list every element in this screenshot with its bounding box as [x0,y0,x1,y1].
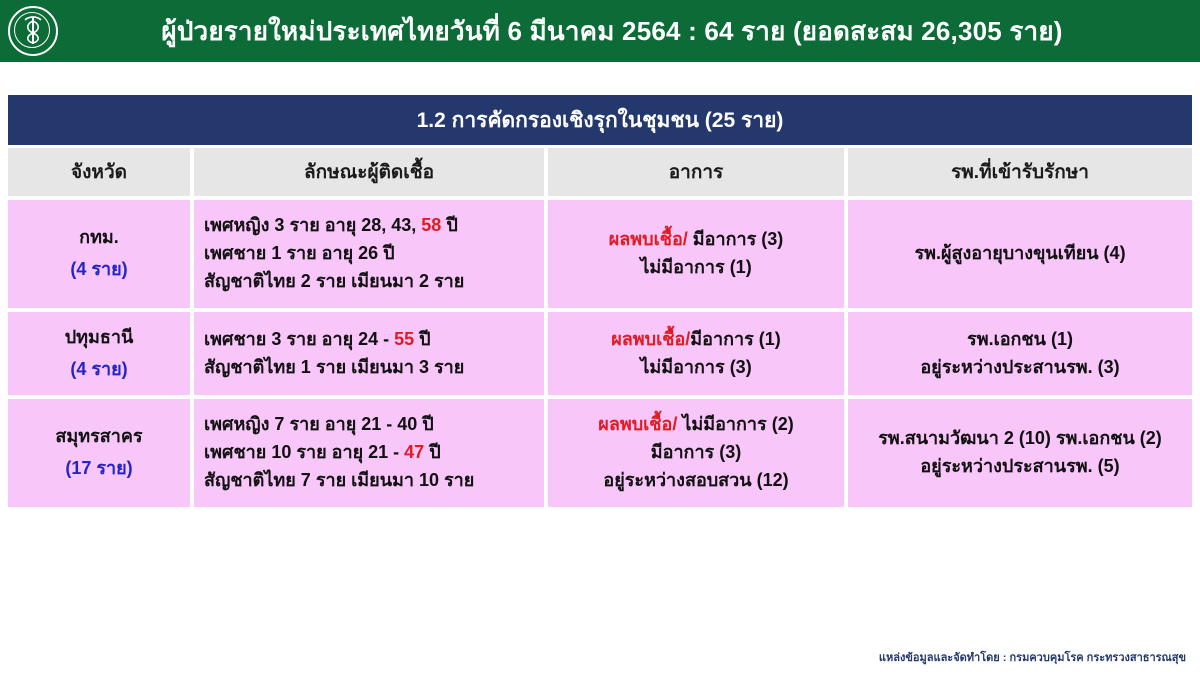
profile-line: สัญชาติไทย 2 ราย เมียนมา 2 ราย [204,268,534,296]
column-header-symptom: อาการ [548,148,848,200]
profile-line: สัญชาติไทย 7 ราย เมียนมา 10 ราย [204,467,534,495]
symptom-cell: ผลพบเชื้อ/มีอาการ (1)ไม่มีอาการ (3) [548,312,848,400]
hospital-line: รพ.เอกชน (1) [858,326,1182,354]
hospital_lines-text: อยู่ระหว่างประสานรพ. (3) [920,357,1119,377]
province-case-count: (17 ราย) [18,455,180,483]
profile_lines-text: สัญชาติไทย 2 ราย เมียนมา 2 ราย [204,271,464,291]
profile-line: เพศชาย 3 ราย อายุ 24 - 55 ปี [204,326,534,354]
symptom-line: ไม่มีอาการ (3) [558,354,834,382]
symptom_lines-text: มีอาการ (3) [651,442,741,462]
symptom_lines-text: อยู่ระหว่างสอบสวน (12) [603,470,788,490]
profile-line: เพศชาย 1 ราย อายุ 26 ปี [204,240,534,268]
profile_lines-highlight: 47 [404,442,424,462]
page-title: ผู้ป่วยรายใหม่ประเทศไทยวันที่ 6 มีนาคม 2… [64,11,1200,52]
symptom_lines-text: ไม่มีอาการ (3) [640,357,751,377]
symptom-line: ผลพบเชื้อ/มีอาการ (1) [558,326,834,354]
hospital_lines-text: รพ.สนามวัฒนา 2 (10) รพ.เอกชน (2) [878,428,1162,448]
table-header-row: จังหวัด ลักษณะผู้ติดเชื้อ อาการ รพ.ที่เข… [8,148,1192,200]
table-body: กทม.(4 ราย)เพศหญิง 3 ราย อายุ 28, 43, 58… [8,200,1192,507]
column-header-hospital: รพ.ที่เข้ารับรักษา [848,148,1192,200]
moph-caduceus-icon [8,6,58,56]
profile_lines-text: เพศชาย 1 ราย อายุ 26 ปี [204,243,395,263]
column-header-profile: ลักษณะผู้ติดเชื้อ [194,148,548,200]
table-row: กทม.(4 ราย)เพศหญิง 3 ราย อายุ 28, 43, 58… [8,200,1192,312]
province-case-count: (4 ราย) [18,256,180,284]
symptom_lines-highlight: ผลพบเชื้อ/ [609,229,688,249]
hospital-cell: รพ.เอกชน (1)อยู่ระหว่างประสานรพ. (3) [848,312,1192,400]
hospital-cell: รพ.สนามวัฒนา 2 (10) รพ.เอกชน (2)อยู่ระหว… [848,399,1192,507]
profile-line: เพศชาย 10 ราย อายุ 21 - 47 ปี [204,439,534,467]
infected-profile-cell: เพศหญิง 7 ราย อายุ 21 - 40 ปีเพศชาย 10 ร… [194,399,548,507]
column-header-province: จังหวัด [8,148,194,200]
symptom_lines-highlight: ผลพบเชื้อ/ [611,329,690,349]
province-cell: กทม.(4 ราย) [8,200,194,312]
hospital_lines-text: รพ.ผู้สูงอายุบางขุนเทียน (4) [914,243,1125,263]
profile_lines-text: ปี [414,329,430,349]
section-heading-label: 1.2 การคัดกรองเชิงรุกในชุมชน (25 ราย) [417,104,784,137]
hospital-line: รพ.สนามวัฒนา 2 (10) รพ.เอกชน (2) [858,425,1182,453]
screening-data-table: จังหวัด ลักษณะผู้ติดเชื้อ อาการ รพ.ที่เข… [8,148,1192,507]
symptom-line: ผลพบเชื้อ/ ไม่มีอาการ (2) [558,411,834,439]
section-heading-bar: 1.2 การคัดกรองเชิงรุกในชุมชน (25 ราย) [8,95,1192,145]
infected-profile-cell: เพศชาย 3 ราย อายุ 24 - 55 ปีสัญชาติไทย 1… [194,312,548,400]
symptom-line: มีอาการ (3) [558,439,834,467]
hospital_lines-text: รพ.เอกชน (1) [967,329,1073,349]
profile_lines-text: สัญชาติไทย 7 ราย เมียนมา 10 ราย [204,470,474,490]
profile-line: เพศหญิง 7 ราย อายุ 21 - 40 ปี [204,411,534,439]
infected-profile-cell: เพศหญิง 3 ราย อายุ 28, 43, 58 ปีเพศชาย 1… [194,200,548,312]
hospital-cell: รพ.ผู้สูงอายุบางขุนเทียน (4) [848,200,1192,312]
symptom-line: อยู่ระหว่างสอบสวน (12) [558,467,834,495]
province-case-count: (4 ราย) [18,356,180,384]
profile_lines-text: เพศชาย 10 ราย อายุ 21 - [204,442,404,462]
symptom_lines-text: ไม่มีอาการ (1) [640,257,751,277]
source-credit: แหล่งข้อมูลและจัดทำโดย : กรมควบคุมโรค กร… [879,648,1186,666]
page-header-banner: ผู้ป่วยรายใหม่ประเทศไทยวันที่ 6 มีนาคม 2… [0,0,1200,62]
symptom-cell: ผลพบเชื้อ/ มีอาการ (3)ไม่มีอาการ (1) [548,200,848,312]
hospital-line: อยู่ระหว่างประสานรพ. (5) [858,453,1182,481]
profile_lines-text: สัญชาติไทย 1 ราย เมียนมา 3 ราย [204,357,464,377]
symptom_lines-highlight: ผลพบเชื้อ/ [598,414,677,434]
profile_lines-highlight: 58 [421,215,441,235]
table-row: สมุทรสาคร(17 ราย)เพศหญิง 7 ราย อายุ 21 -… [8,399,1192,507]
symptom_lines-text: ไม่มีอาการ (2) [677,414,793,434]
profile_lines-text: เพศหญิง 3 ราย อายุ 28, 43, [204,215,421,235]
province-name: สมุทรสาคร [18,423,180,451]
province-name: กทม. [18,224,180,252]
profile_lines-text: เพศชาย 3 ราย อายุ 24 - [204,329,394,349]
hospital-line: รพ.ผู้สูงอายุบางขุนเทียน (4) [858,240,1182,268]
hospital_lines-text: อยู่ระหว่างประสานรพ. (5) [920,456,1119,476]
symptom-cell: ผลพบเชื้อ/ ไม่มีอาการ (2)มีอาการ (3)อยู่… [548,399,848,507]
profile_lines-text: ปี [441,215,457,235]
province-cell: สมุทรสาคร(17 ราย) [8,399,194,507]
hospital-line: อยู่ระหว่างประสานรพ. (3) [858,354,1182,382]
symptom-line: ผลพบเชื้อ/ มีอาการ (3) [558,226,834,254]
profile_lines-text: ปี [424,442,440,462]
symptom_lines-text: มีอาการ (3) [688,229,783,249]
table-row: ปทุมธานี(4 ราย)เพศชาย 3 ราย อายุ 24 - 55… [8,312,1192,400]
province-name: ปทุมธานี [18,324,180,352]
symptom-line: ไม่มีอาการ (1) [558,254,834,282]
profile_lines-highlight: 55 [394,329,414,349]
profile-line: เพศหญิง 3 ราย อายุ 28, 43, 58 ปี [204,212,534,240]
profile_lines-text: เพศหญิง 7 ราย อายุ 21 - 40 ปี [204,414,434,434]
symptom_lines-text: มีอาการ (1) [690,329,780,349]
profile-line: สัญชาติไทย 1 ราย เมียนมา 3 ราย [204,354,534,382]
province-cell: ปทุมธานี(4 ราย) [8,312,194,400]
